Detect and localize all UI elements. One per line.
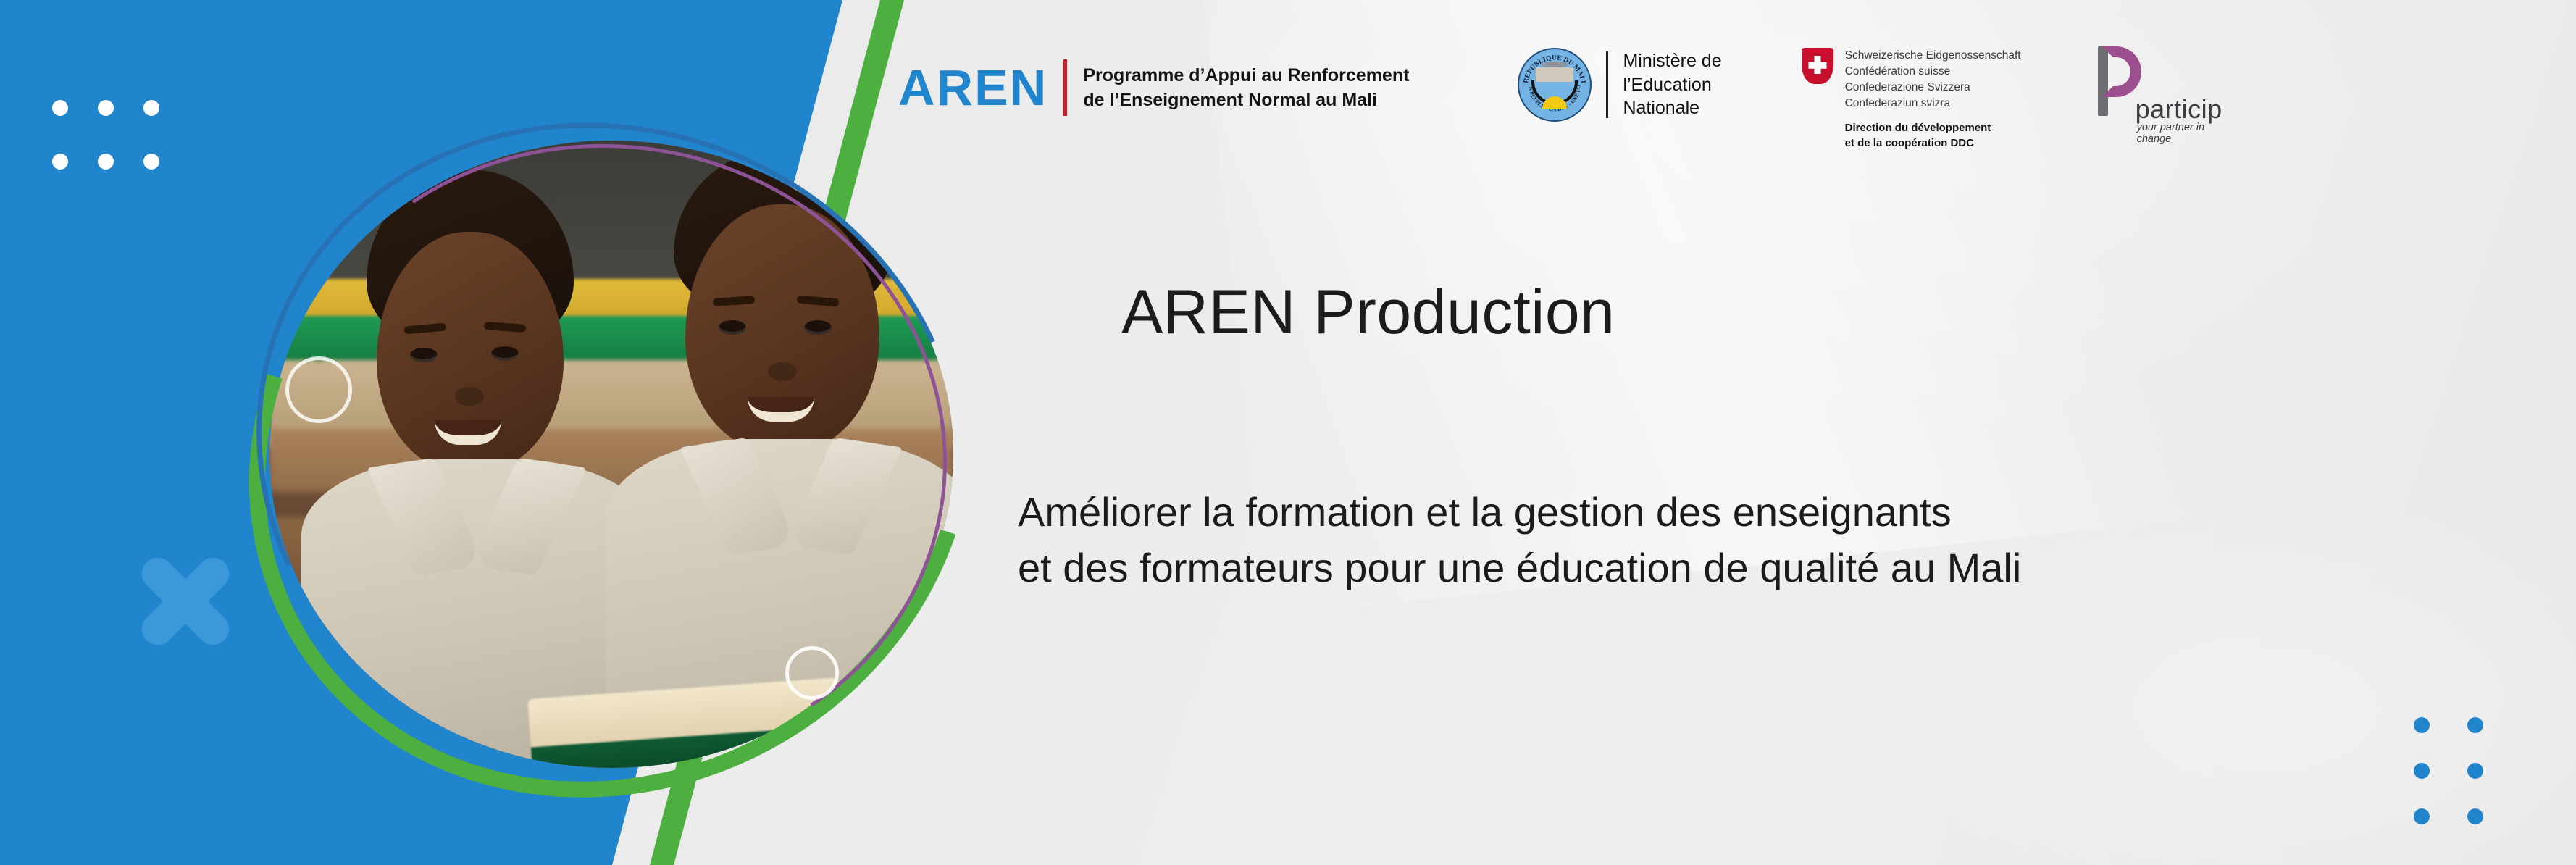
page-subtitle: Améliorer la formation et la gestion des…: [1018, 484, 2021, 596]
dot: [2467, 808, 2483, 824]
dot: [52, 154, 68, 170]
ministry-line-3: Nationale: [1623, 96, 1721, 120]
page-title: AREN Production: [1121, 277, 1615, 348]
mali-national-seal-icon: REPUBLIQUE DU MALI UN PEUPLE - UN BUT - …: [1518, 48, 1592, 122]
oval-photo-frame: [252, 128, 969, 780]
decorative-ring-accent-lower: [785, 646, 839, 700]
decorative-x-mark: [135, 551, 236, 652]
dot: [98, 154, 114, 170]
dot: [143, 154, 159, 170]
particip-wordmark: particip: [2136, 94, 2222, 125]
dot: [52, 100, 68, 116]
ministry-of-education-logo: REPUBLIQUE DU MALI UN PEUPLE - UN BUT - …: [1518, 48, 1721, 122]
ministry-line-1: Ministère de: [1623, 49, 1721, 73]
dot: [98, 100, 114, 116]
aren-tagline-line-1: Programme d’Appui au Renforcement: [1083, 63, 1409, 88]
dot: [2414, 763, 2430, 779]
dot: [2414, 717, 2430, 733]
swiss-ddc-line-1: Direction du développement: [1845, 121, 2021, 136]
dot: [143, 100, 159, 116]
aren-tagline: Programme d’Appui au Renforcement de l’E…: [1083, 63, 1409, 113]
aren-logo: AREN Programme d’Appui au Renforcement d…: [898, 59, 1409, 116]
partner-logo-row: AREN Programme d’Appui au Renforcement d…: [898, 43, 2547, 167]
page-subtitle-line-1: Améliorer la formation et la gestion des…: [1018, 484, 2021, 540]
aren-red-divider-bar: [1063, 59, 1067, 116]
ministry-name: Ministère de l’Education Nationale: [1623, 49, 1721, 120]
particip-p-bowl-icon: [2102, 46, 2141, 97]
swiss-cooperation-logo: Schweizerische Eidgenossenschaft Confédé…: [1802, 48, 2021, 151]
ministry-divider-bar: [1606, 51, 1608, 118]
particip-slogan: your partner in change: [2137, 122, 2231, 145]
dot: [2414, 808, 2430, 824]
swiss-line-2: Confédération suisse: [1845, 64, 2021, 80]
swiss-line-4: Confederaziun svizra: [1845, 96, 2021, 112]
aren-tagline-line-2: de l’Enseignement Normal au Mali: [1083, 88, 1409, 113]
page-subtitle-line-2: et des formateurs pour une éducation de …: [1018, 540, 2021, 596]
dot: [2467, 717, 2483, 733]
swiss-ddc-line-2: et de la coopération DDC: [1845, 136, 2021, 151]
swiss-shield-icon: [1802, 48, 1833, 84]
particip-logo: particip your partner in change: [2094, 41, 2231, 135]
swiss-line-3: Confederazione Svizzera: [1845, 80, 2021, 96]
aren-wordmark: AREN: [898, 64, 1047, 112]
swiss-line-1: Schweizerische Eidgenossenschaft: [1845, 48, 2021, 64]
swiss-logo-text: Schweizerische Eidgenossenschaft Confédé…: [1845, 48, 2021, 151]
aren-production-banner: AREN Programme d’Appui au Renforcement d…: [0, 0, 2576, 865]
ministry-line-2: l’Education: [1623, 73, 1721, 97]
dot: [2467, 763, 2483, 779]
